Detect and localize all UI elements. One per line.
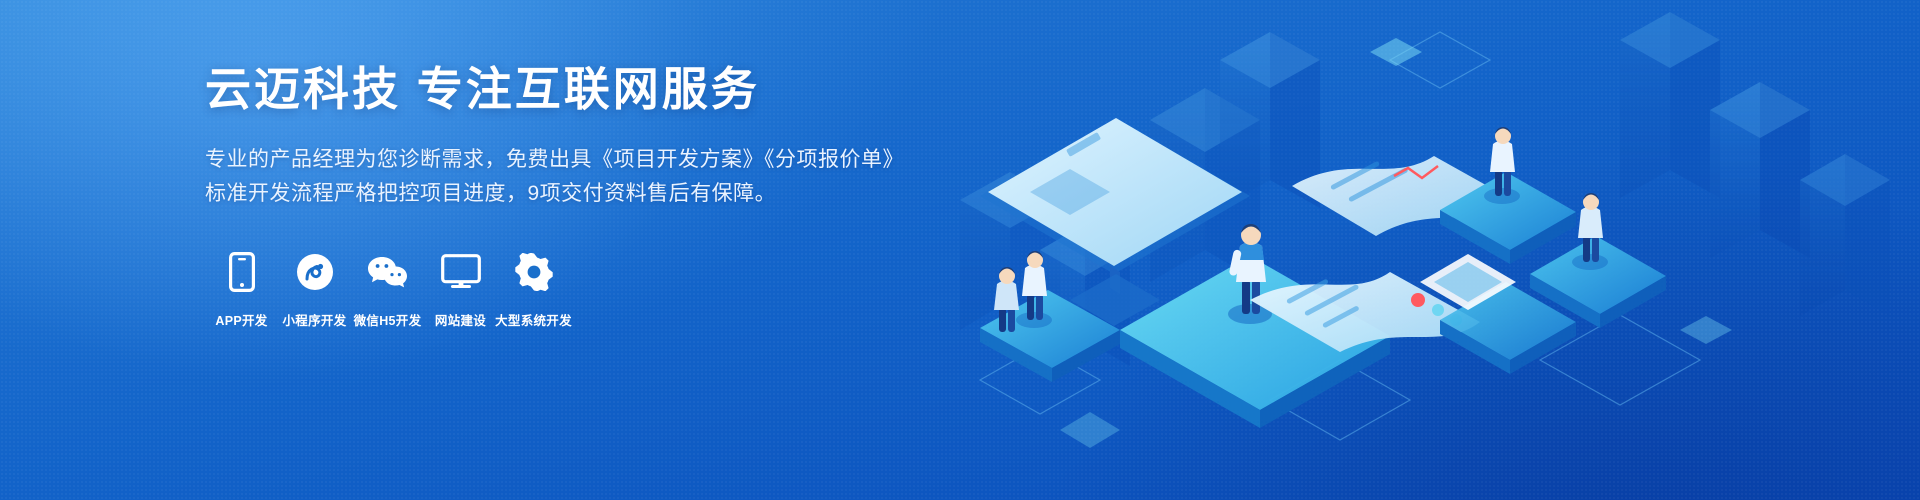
subtitle-line-1: 专业的产品经理为您诊断需求，免费出具《项目开发方案》《分项报价单》 xyxy=(205,143,905,177)
service-label: 微信H5开发 xyxy=(354,310,422,329)
service-label: APP开发 xyxy=(215,310,267,329)
subtitle-line-2: 标准开发流程严格把控项目进度，9项交付资料售后有保障。 xyxy=(205,177,905,211)
page-title: 云迈科技 专注互联网服务 xyxy=(205,62,905,117)
monitor-icon xyxy=(441,251,481,293)
service-list: APP开发 小程序开发 xyxy=(205,251,905,329)
service-label: 大型系统开发 xyxy=(495,310,572,329)
service-item-miniprogram[interactable]: 小程序开发 xyxy=(278,251,351,329)
service-item-wechat-h5[interactable]: 微信H5开发 xyxy=(351,251,424,329)
gear-icon xyxy=(515,251,553,293)
subtitle-block: 专业的产品经理为您诊断需求，免费出具《项目开发方案》《分项报价单》 标准开发流程… xyxy=(205,143,905,211)
wechat-icon xyxy=(367,251,409,293)
isometric-illustration xyxy=(920,0,1920,500)
service-item-app[interactable]: APP开发 xyxy=(205,251,278,329)
mini-program-icon xyxy=(296,251,334,293)
mobile-phone-icon xyxy=(229,251,255,293)
service-label: 网站建设 xyxy=(435,310,486,329)
promo-banner: 云迈科技 专注互联网服务 专业的产品经理为您诊断需求，免费出具《项目开发方案》《… xyxy=(0,0,1920,500)
service-label: 小程序开发 xyxy=(282,310,346,329)
service-item-large-system[interactable]: 大型系统开发 xyxy=(497,251,570,329)
service-item-website[interactable]: 网站建设 xyxy=(424,251,497,329)
banner-content: 云迈科技 专注互联网服务 专业的产品经理为您诊断需求，免费出具《项目开发方案》《… xyxy=(205,62,905,329)
